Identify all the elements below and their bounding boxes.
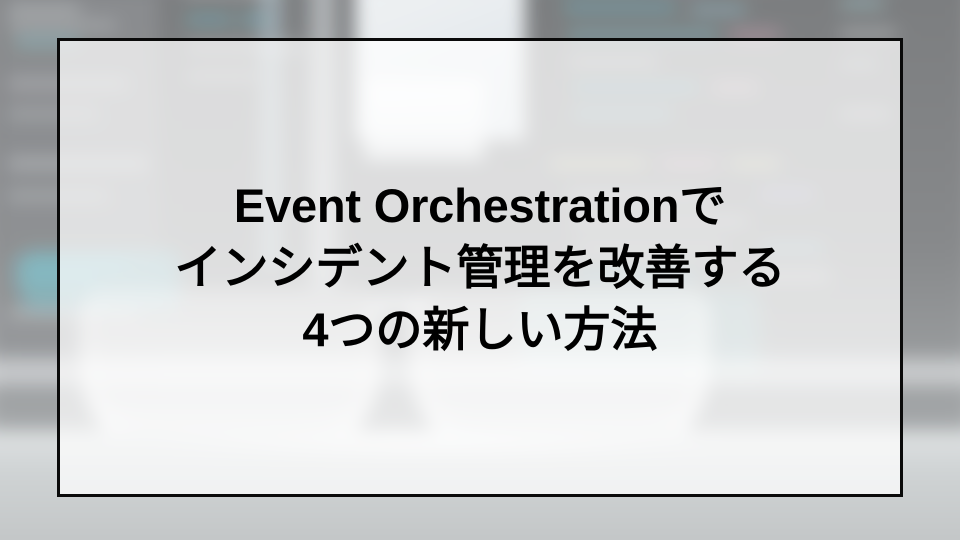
title-card-screenshot: Event Orchestrationで インシデント管理を改善する 4つの新し… [0, 0, 960, 540]
code-line [840, 0, 884, 7]
code-line [186, 16, 232, 23]
code-line [564, 4, 676, 11]
code-line [8, 6, 80, 13]
code-line [690, 6, 746, 13]
code-line [8, 22, 116, 29]
title-card-frame [57, 38, 903, 497]
code-line [840, 30, 896, 37]
